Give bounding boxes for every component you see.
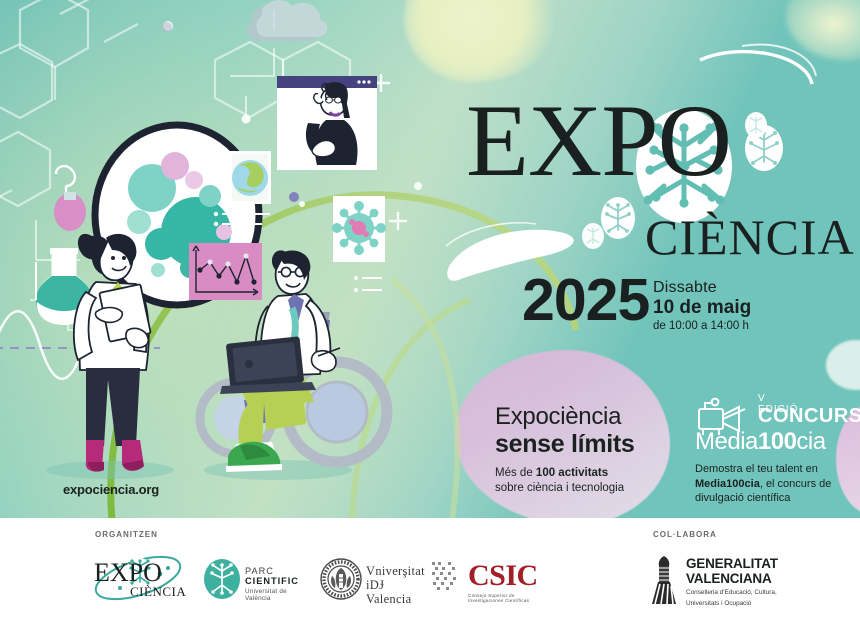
brand-title-main: EXPO: [466, 100, 731, 182]
contest-desc-1: Demostra el teu talent en: [695, 463, 818, 475]
contest-description: Demostra el teu talent en Media100cia, e…: [695, 462, 860, 506]
logo-row: EXPO CIÈNCIA: [0, 542, 860, 612]
logo-expociencia-sub: CIÈNCIA: [130, 584, 186, 600]
poster-background: EXPO CIÈNCIA 2025 Dissabte 10 de maig de…: [0, 0, 860, 518]
logo-parc-cientific-text: PARC CIENTIFIC Universitat de València: [245, 566, 299, 602]
logo-generalitat-valenciana[interactable]: GENERALITAT VALENCIANA Conselleria d'Edu…: [650, 554, 682, 611]
gv-line-4: Universitats i Ocupació: [686, 600, 778, 608]
petri-dish-small-3: [601, 197, 635, 239]
csic-mark-icon: [428, 558, 462, 598]
event-year: 2025: [522, 271, 649, 330]
green-arc-inner2: [392, 280, 457, 518]
orbit-swoosh-top: [700, 52, 812, 84]
logo-csic-text: CSIC Consejo Superior de Investigaciones…: [468, 560, 538, 603]
event-hours: de 10:00 a 14:00 h: [653, 319, 751, 334]
slogan-block: Expociència sense límits Més de 100 acti…: [495, 403, 635, 496]
logo-parc-cientific[interactable]: PARC CIENTIFIC Universitat de València: [203, 558, 241, 605]
logo-universitat-de-valencia[interactable]: Vniverşitat iDɈ Valencia: [320, 558, 362, 605]
gv-shield-icon: [650, 554, 682, 606]
csic-acronym: CSIC: [468, 560, 538, 592]
parc-cientific-icon: [203, 558, 241, 600]
footer-bar: ORGANITZEN COL·LABORA: [0, 518, 860, 620]
uv-line-2: iDɈ Valencia: [366, 578, 425, 606]
poster-root: EXPO CIÈNCIA 2025 Dissabte 10 de maig de…: [0, 0, 860, 620]
parc-line-1-bold: CIENTIFIC: [245, 576, 299, 586]
contest-name: Media100cia: [695, 429, 826, 455]
parc-line-1-light: PARC: [245, 566, 274, 576]
website-url[interactable]: expociencia.org: [63, 482, 159, 497]
logo-uv-text: Vniverşitat iDɈ Valencia: [366, 564, 425, 606]
gv-line-2: VALENCIANA: [686, 571, 778, 586]
line-chart-card: [189, 243, 262, 300]
contest-kicker: CONCURS: [758, 405, 860, 427]
cloud-icon: [247, 0, 327, 41]
event-date-block: Dissabte 10 de maig de 10:00 a 14:00 h: [653, 278, 751, 334]
globe-card: [229, 151, 271, 204]
logo-expociencia-word: EXPO: [94, 560, 162, 586]
slogan-sub-bold: 100 activitats: [536, 467, 608, 479]
logo-gv-text: GENERALITAT VALENCIANA Conselleria d'Edu…: [686, 556, 778, 609]
uv-seal-icon: [320, 558, 362, 600]
gv-line-1: GENERALITAT: [686, 556, 778, 571]
csic-subtitle: Consejo Superior de Investigaciones Cien…: [468, 593, 538, 603]
brand-title-sub: CIÈNCIA: [645, 212, 855, 262]
event-date: 10 de maig: [653, 297, 751, 319]
virus-card: [332, 196, 386, 262]
collaborators-label: COL·LABORA: [653, 530, 717, 539]
contest-desc-2-rest: , el concurs de: [760, 478, 832, 490]
parc-line-1: PARC CIENTIFIC: [245, 566, 299, 586]
logo-expociencia[interactable]: EXPO CIÈNCIA: [90, 548, 186, 615]
parc-line-2: Universitat de València: [245, 588, 299, 602]
uv-line-1: Vniverşitat: [366, 564, 425, 578]
contest-desc-3: divulgació científica: [695, 492, 790, 504]
logo-csic[interactable]: CSIC Consejo Superior de Investigaciones…: [428, 558, 462, 603]
slogan-line-1: Expociència: [495, 403, 635, 430]
petri-dish-small-2: [745, 112, 767, 138]
contest-name-pre: Media: [695, 428, 758, 455]
slogan-sub-2: sobre ciència i tecnologia: [495, 481, 635, 496]
slogan-sub-1: Més de 100 activitats: [495, 466, 635, 481]
gv-line-3: Conselleria d'Educació, Cultura,: [686, 589, 778, 597]
slogan-line-2: sense límits: [495, 430, 635, 458]
contest-desc-2-bold: Media100cia: [695, 478, 760, 490]
organizers-label: ORGANITZEN: [95, 530, 158, 539]
event-day-label: Dissabte: [653, 278, 751, 297]
browser-window-illustration: [277, 76, 377, 170]
contest-name-number: 100: [758, 428, 797, 455]
petri-dish-small-4: [582, 223, 604, 249]
slogan-sub-prefix: Més de: [495, 467, 536, 479]
contest-name-post: cia: [796, 428, 825, 455]
